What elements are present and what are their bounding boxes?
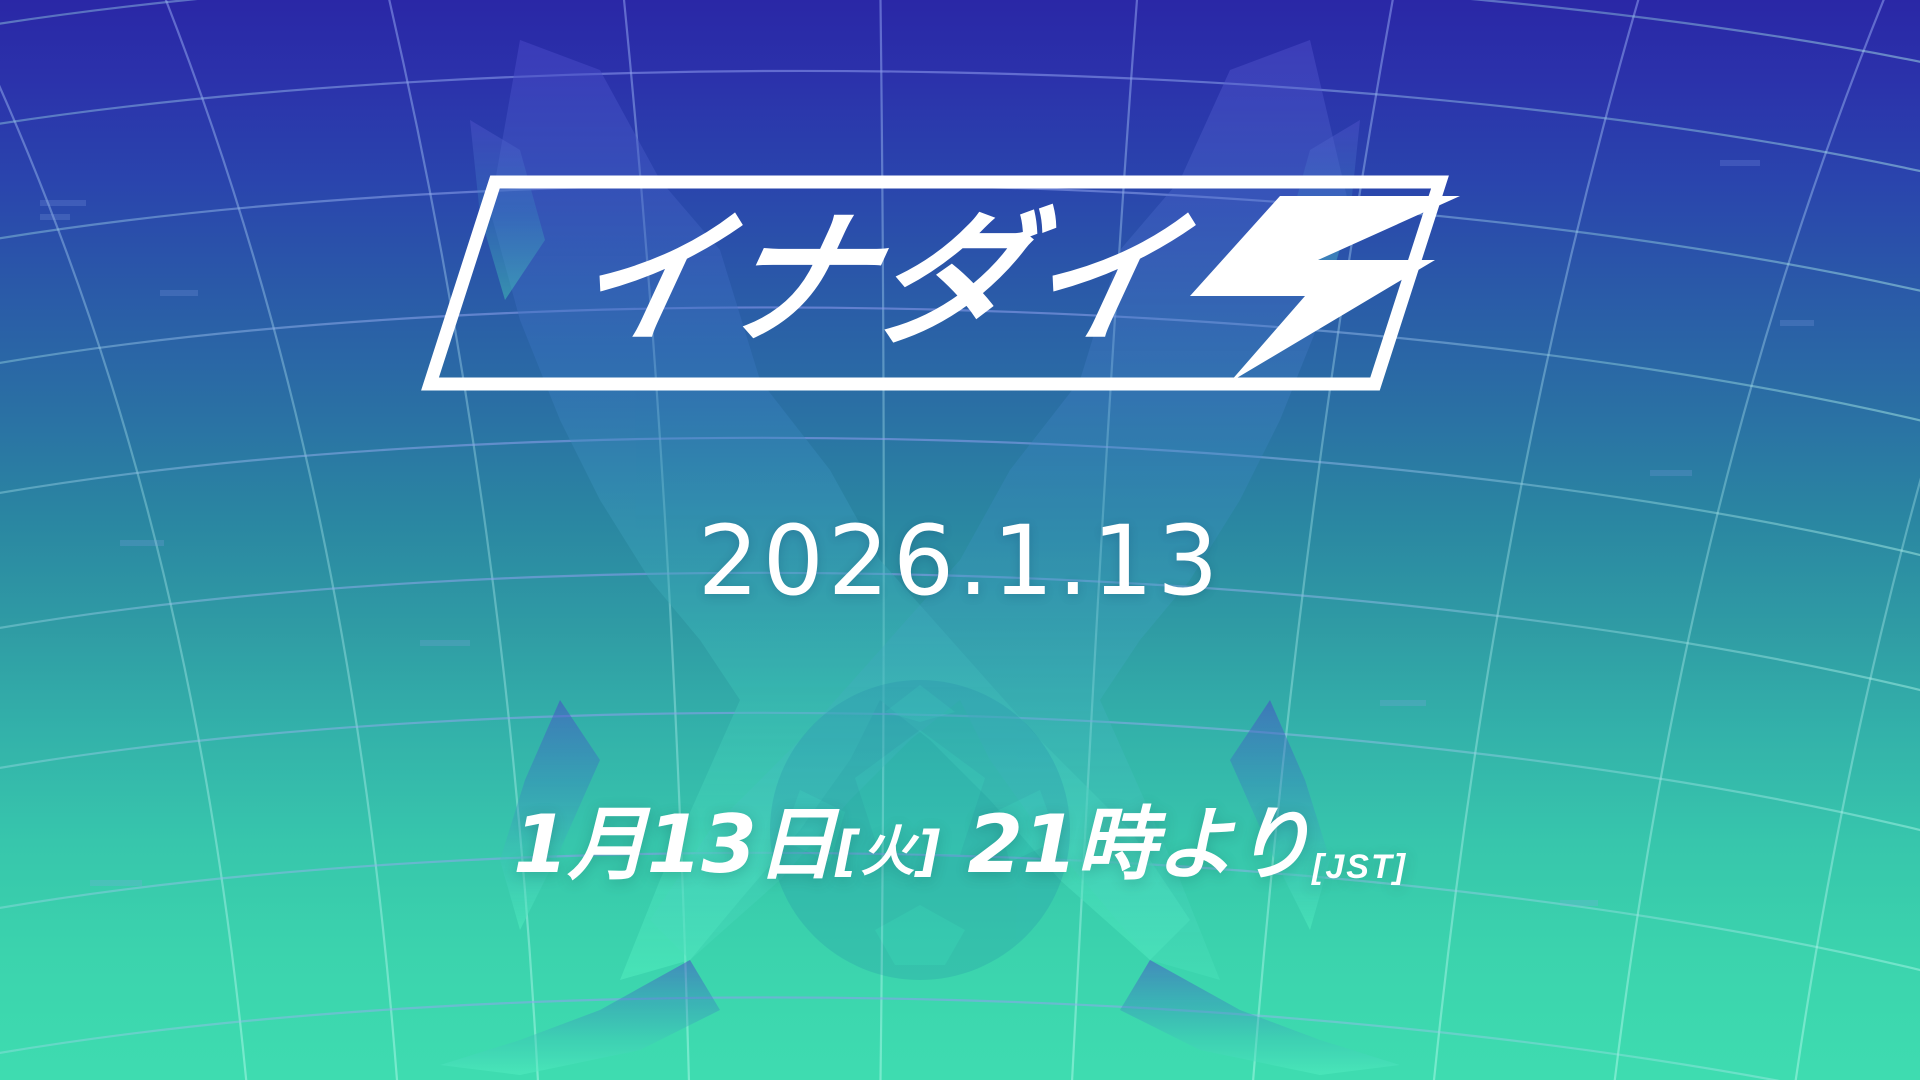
schedule-weekday: [火]	[835, 820, 941, 883]
schedule-timezone: [JST]	[1312, 848, 1407, 886]
banner-content: イナダイ 2026.1.13 1月13日[火]21時より[JST]	[0, 0, 1920, 1080]
logo-title-text: イナダイ	[558, 195, 1203, 365]
schedule-time: 21時より	[967, 798, 1312, 891]
event-schedule: 1月13日[火]21時より[JST]	[0, 805, 1920, 885]
schedule-day: 1月13日	[513, 798, 835, 891]
event-date: 2026.1.13	[0, 513, 1920, 609]
teaser-banner: イナダイ 2026.1.13 1月13日[火]21時より[JST]	[0, 0, 1920, 1080]
logo-svg: イナダイ	[400, 168, 1520, 398]
lightning-bolt-icon	[1190, 196, 1460, 382]
logo-lockup: イナダイ	[400, 168, 1520, 398]
